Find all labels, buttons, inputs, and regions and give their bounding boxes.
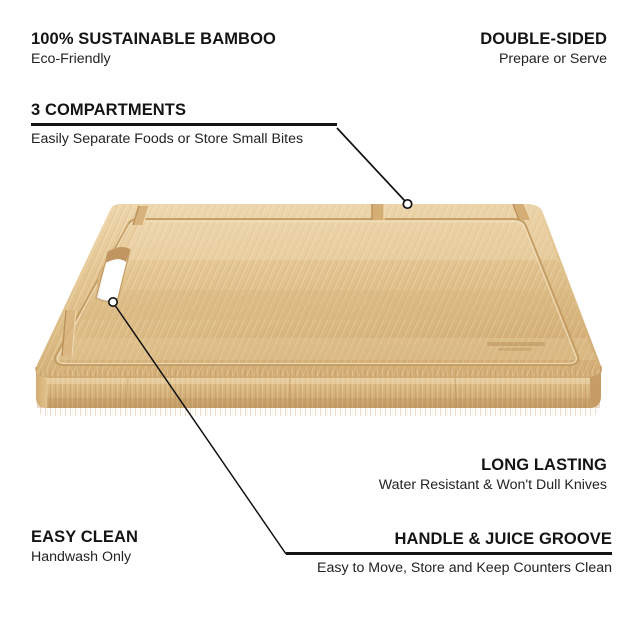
callout-handle-juice-groove: HANDLE & JUICE GROOVE Easy to Move, Stor…: [286, 530, 612, 578]
cutting-board-image: [0, 170, 638, 420]
callout-long-lasting: LONG LASTING Water Resistant & Won't Dul…: [379, 456, 607, 495]
callout-title: DOUBLE-SIDED: [480, 30, 607, 48]
callout-subtitle: Easy to Move, Store and Keep Counters Cl…: [286, 560, 612, 577]
callout-subtitle: Handwash Only: [31, 549, 138, 566]
callout-title: LONG LASTING: [379, 456, 607, 474]
callout-double-sided: DOUBLE-SIDED Prepare or Serve: [480, 30, 607, 69]
callout-title: HANDLE & JUICE GROOVE: [286, 530, 612, 548]
callout-subtitle: Eco-Friendly: [31, 51, 276, 68]
infographic-canvas: 100% SUSTAINABLE BAMBOO Eco-Friendly DOU…: [0, 0, 638, 638]
compartment-groove-center: [372, 204, 384, 220]
callout-three-compartments: 3 COMPARTMENTS Easily Separate Foods or …: [31, 101, 337, 149]
callout-subtitle: Prepare or Serve: [480, 51, 607, 68]
callout-title: 100% SUSTAINABLE BAMBOO: [31, 30, 276, 48]
callout-subtitle: Easily Separate Foods or Store Small Bit…: [31, 131, 337, 148]
callout-title: 3 COMPARTMENTS: [31, 101, 337, 119]
callout-title: EASY CLEAN: [31, 528, 138, 546]
callout-subtitle: Water Resistant & Won't Dull Knives: [379, 477, 607, 494]
callout-underline-rule: [31, 123, 337, 126]
callout-underline-rule: [286, 552, 612, 555]
board-front-edge: [0, 365, 638, 420]
callout-easy-clean: EASY CLEAN Handwash Only: [31, 528, 138, 567]
callout-sustainable-bamboo: 100% SUSTAINABLE BAMBOO Eco-Friendly: [31, 30, 276, 69]
